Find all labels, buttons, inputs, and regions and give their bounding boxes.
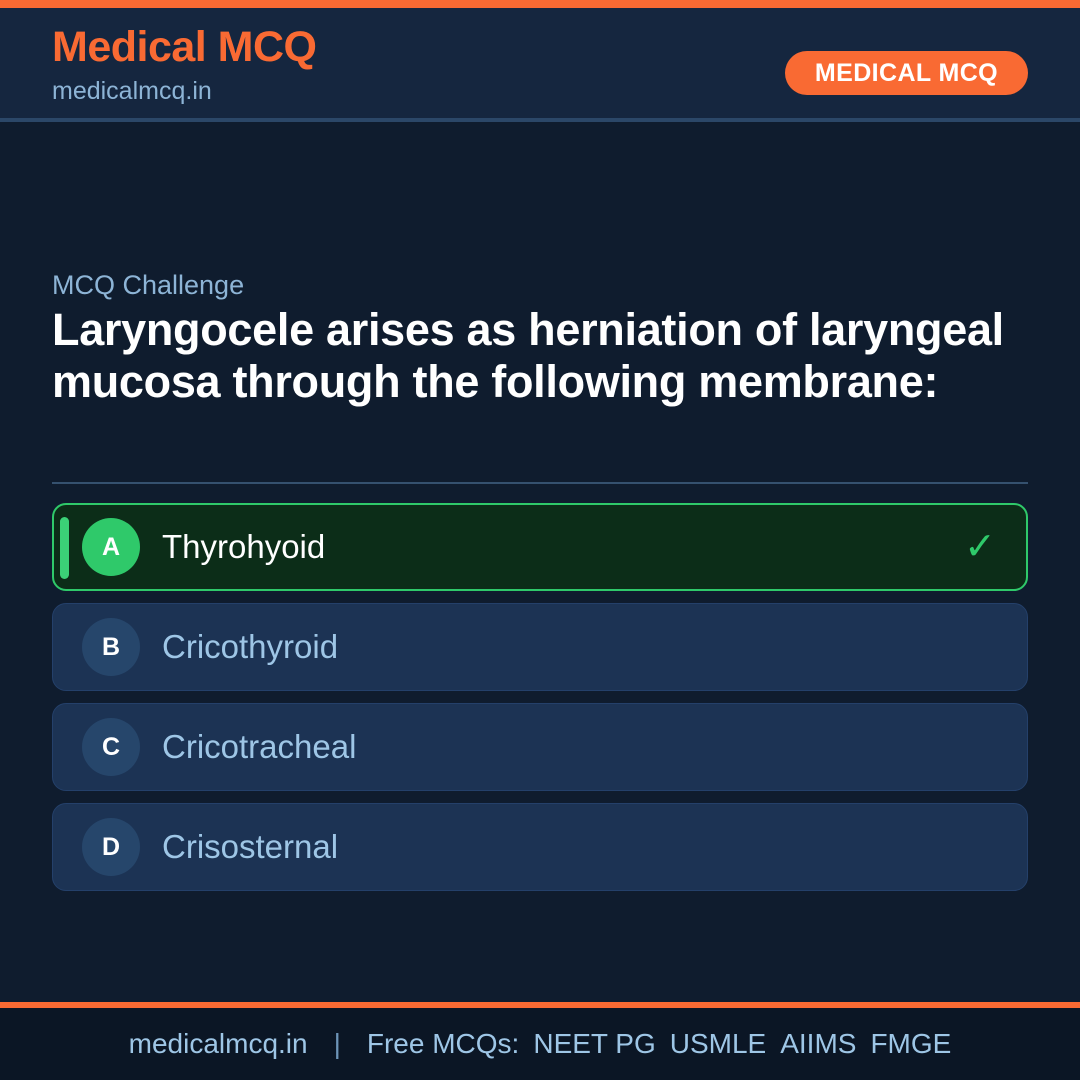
option-row-b[interactable]: B Cricothyroid: [52, 603, 1028, 691]
footer-content: medicalmcq.in | Free MCQs: NEET PG USMLE…: [129, 1027, 952, 1061]
brand-title: Medical MCQ: [52, 21, 317, 73]
question-divider: [52, 482, 1028, 484]
footer-exam-fmge[interactable]: FMGE: [870, 1027, 951, 1061]
brand-subtitle: medicalmcq.in: [52, 75, 317, 107]
option-letter-badge-c: C: [82, 718, 140, 776]
footer-label: Free MCQs:: [367, 1027, 519, 1061]
correct-accent-bar: [60, 517, 69, 579]
brand-block: Medical MCQ medicalmcq.in: [52, 21, 317, 107]
option-letter-badge-a: A: [82, 518, 140, 576]
options-list: A Thyrohyoid ✓ B Cricothyroid C Cricotra…: [52, 503, 1028, 903]
option-row-d[interactable]: D Crisosternal: [52, 803, 1028, 891]
option-label-a: Thyrohyoid: [162, 527, 325, 567]
option-letter-badge-d: D: [82, 818, 140, 876]
option-row-c[interactable]: C Cricotracheal: [52, 703, 1028, 791]
footer-exam-aiims[interactable]: AIIMS: [780, 1027, 856, 1061]
footer-site-link[interactable]: medicalmcq.in: [129, 1027, 308, 1061]
header-badge[interactable]: MEDICAL MCQ: [785, 51, 1028, 95]
option-label-d: Crisosternal: [162, 827, 338, 867]
app-header: Medical MCQ medicalmcq.in MEDICAL MCQ: [0, 8, 1080, 120]
option-label-c: Cricotracheal: [162, 727, 356, 767]
option-letter-badge-b: B: [82, 618, 140, 676]
top-accent-bar: [0, 0, 1080, 8]
option-row-a[interactable]: A Thyrohyoid ✓: [52, 503, 1028, 591]
option-label-b: Cricothyroid: [162, 627, 338, 667]
main-content: MCQ Challenge Laryngocele arises as hern…: [0, 122, 1080, 1002]
question-text: Laryngocele arises as herniation of lary…: [52, 304, 1028, 408]
footer-exam-neet-pg[interactable]: NEET PG: [533, 1027, 655, 1061]
mcq-challenge-label: MCQ Challenge: [52, 268, 244, 302]
page-footer: medicalmcq.in | Free MCQs: NEET PG USMLE…: [0, 1008, 1080, 1080]
footer-exam-usmle[interactable]: USMLE: [670, 1027, 766, 1061]
footer-separator: |: [334, 1027, 341, 1061]
check-icon: ✓: [964, 528, 996, 566]
